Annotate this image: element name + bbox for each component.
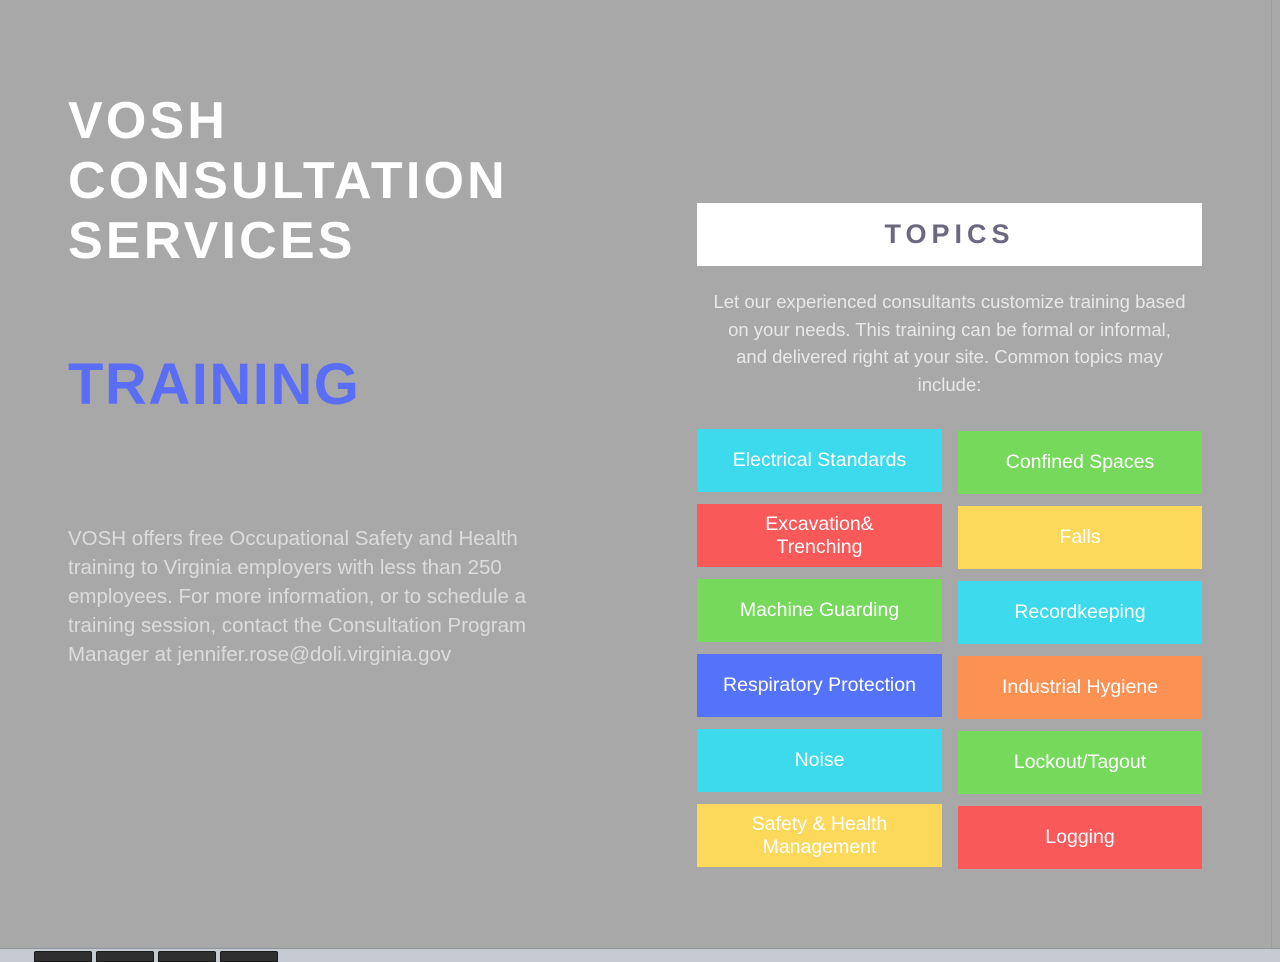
topics-header-label: TOPICS: [884, 219, 1014, 250]
topic-chip[interactable]: Confined Spaces: [958, 431, 1202, 494]
left-content-column: VOSH CONSULTATION SERVICES: [68, 92, 628, 271]
topic-chip-row: Excavation&Trenching Falls: [697, 504, 1202, 579]
topic-chip[interactable]: Machine Guarding: [697, 579, 942, 642]
topic-chip-row: Respiratory Protection Industrial Hygien…: [697, 654, 1202, 729]
topic-chip[interactable]: Excavation&Trenching: [697, 504, 942, 567]
topic-chip-label: Safety & HealthManagement: [703, 813, 936, 859]
topic-chip[interactable]: Falls: [958, 506, 1202, 569]
topic-chip[interactable]: Noise: [697, 729, 942, 792]
taskbar-item[interactable]: [158, 951, 216, 962]
topics-intro-text: Let our experienced consultants customiz…: [697, 266, 1202, 398]
topic-chip-label: Respiratory Protection: [703, 674, 936, 697]
taskbar-item[interactable]: [34, 951, 92, 962]
slide-canvas: VOSH CONSULTATION SERVICES TRAINING VOSH…: [0, 0, 1280, 962]
topic-chip-row: Electrical Standards Confined Spaces: [697, 429, 1202, 504]
topic-chip[interactable]: Lockout/Tagout: [958, 731, 1202, 794]
topics-panel: TOPICS Let our experienced consultants c…: [697, 203, 1202, 398]
right-edge-divider: [1271, 0, 1272, 948]
topic-chip-label: Lockout/Tagout: [964, 751, 1196, 774]
topic-chip[interactable]: Respiratory Protection: [697, 654, 942, 717]
topic-chip-label: Industrial Hygiene: [964, 676, 1196, 699]
topic-chip-label: Noise: [703, 749, 936, 772]
topic-chip-label: Logging: [964, 826, 1196, 849]
taskbar-strip: [0, 948, 1280, 962]
topic-chip[interactable]: Recordkeeping: [958, 581, 1202, 644]
program-description-text: VOSH offers free Occupational Safety and…: [68, 524, 548, 669]
topic-chip-label: Excavation&Trenching: [703, 513, 936, 559]
topic-chip-row: Noise Lockout/Tagout: [697, 729, 1202, 804]
topic-chip-label: Falls: [964, 526, 1196, 549]
topic-chips-grid: Electrical Standards Confined Spaces Exc…: [697, 429, 1202, 879]
topic-chip[interactable]: Logging: [958, 806, 1202, 869]
topic-chip[interactable]: Safety & HealthManagement: [697, 804, 942, 867]
topic-chip-label: Confined Spaces: [964, 451, 1196, 474]
topic-chip-row: Machine Guarding Recordkeeping: [697, 579, 1202, 654]
section-subtitle-training: TRAINING: [68, 356, 360, 414]
page-title: VOSH CONSULTATION SERVICES: [68, 92, 628, 271]
topic-chip-row: Safety & HealthManagement Logging: [697, 804, 1202, 879]
taskbar-item[interactable]: [96, 951, 154, 962]
topic-chip-label: Recordkeeping: [964, 601, 1196, 624]
topics-header-bar: TOPICS: [697, 203, 1202, 266]
topic-chip-label: Machine Guarding: [703, 599, 936, 622]
topic-chip-label: Electrical Standards: [703, 449, 936, 472]
topic-chip[interactable]: Electrical Standards: [697, 429, 942, 492]
taskbar-item[interactable]: [220, 951, 278, 962]
topic-chip[interactable]: Industrial Hygiene: [958, 656, 1202, 719]
